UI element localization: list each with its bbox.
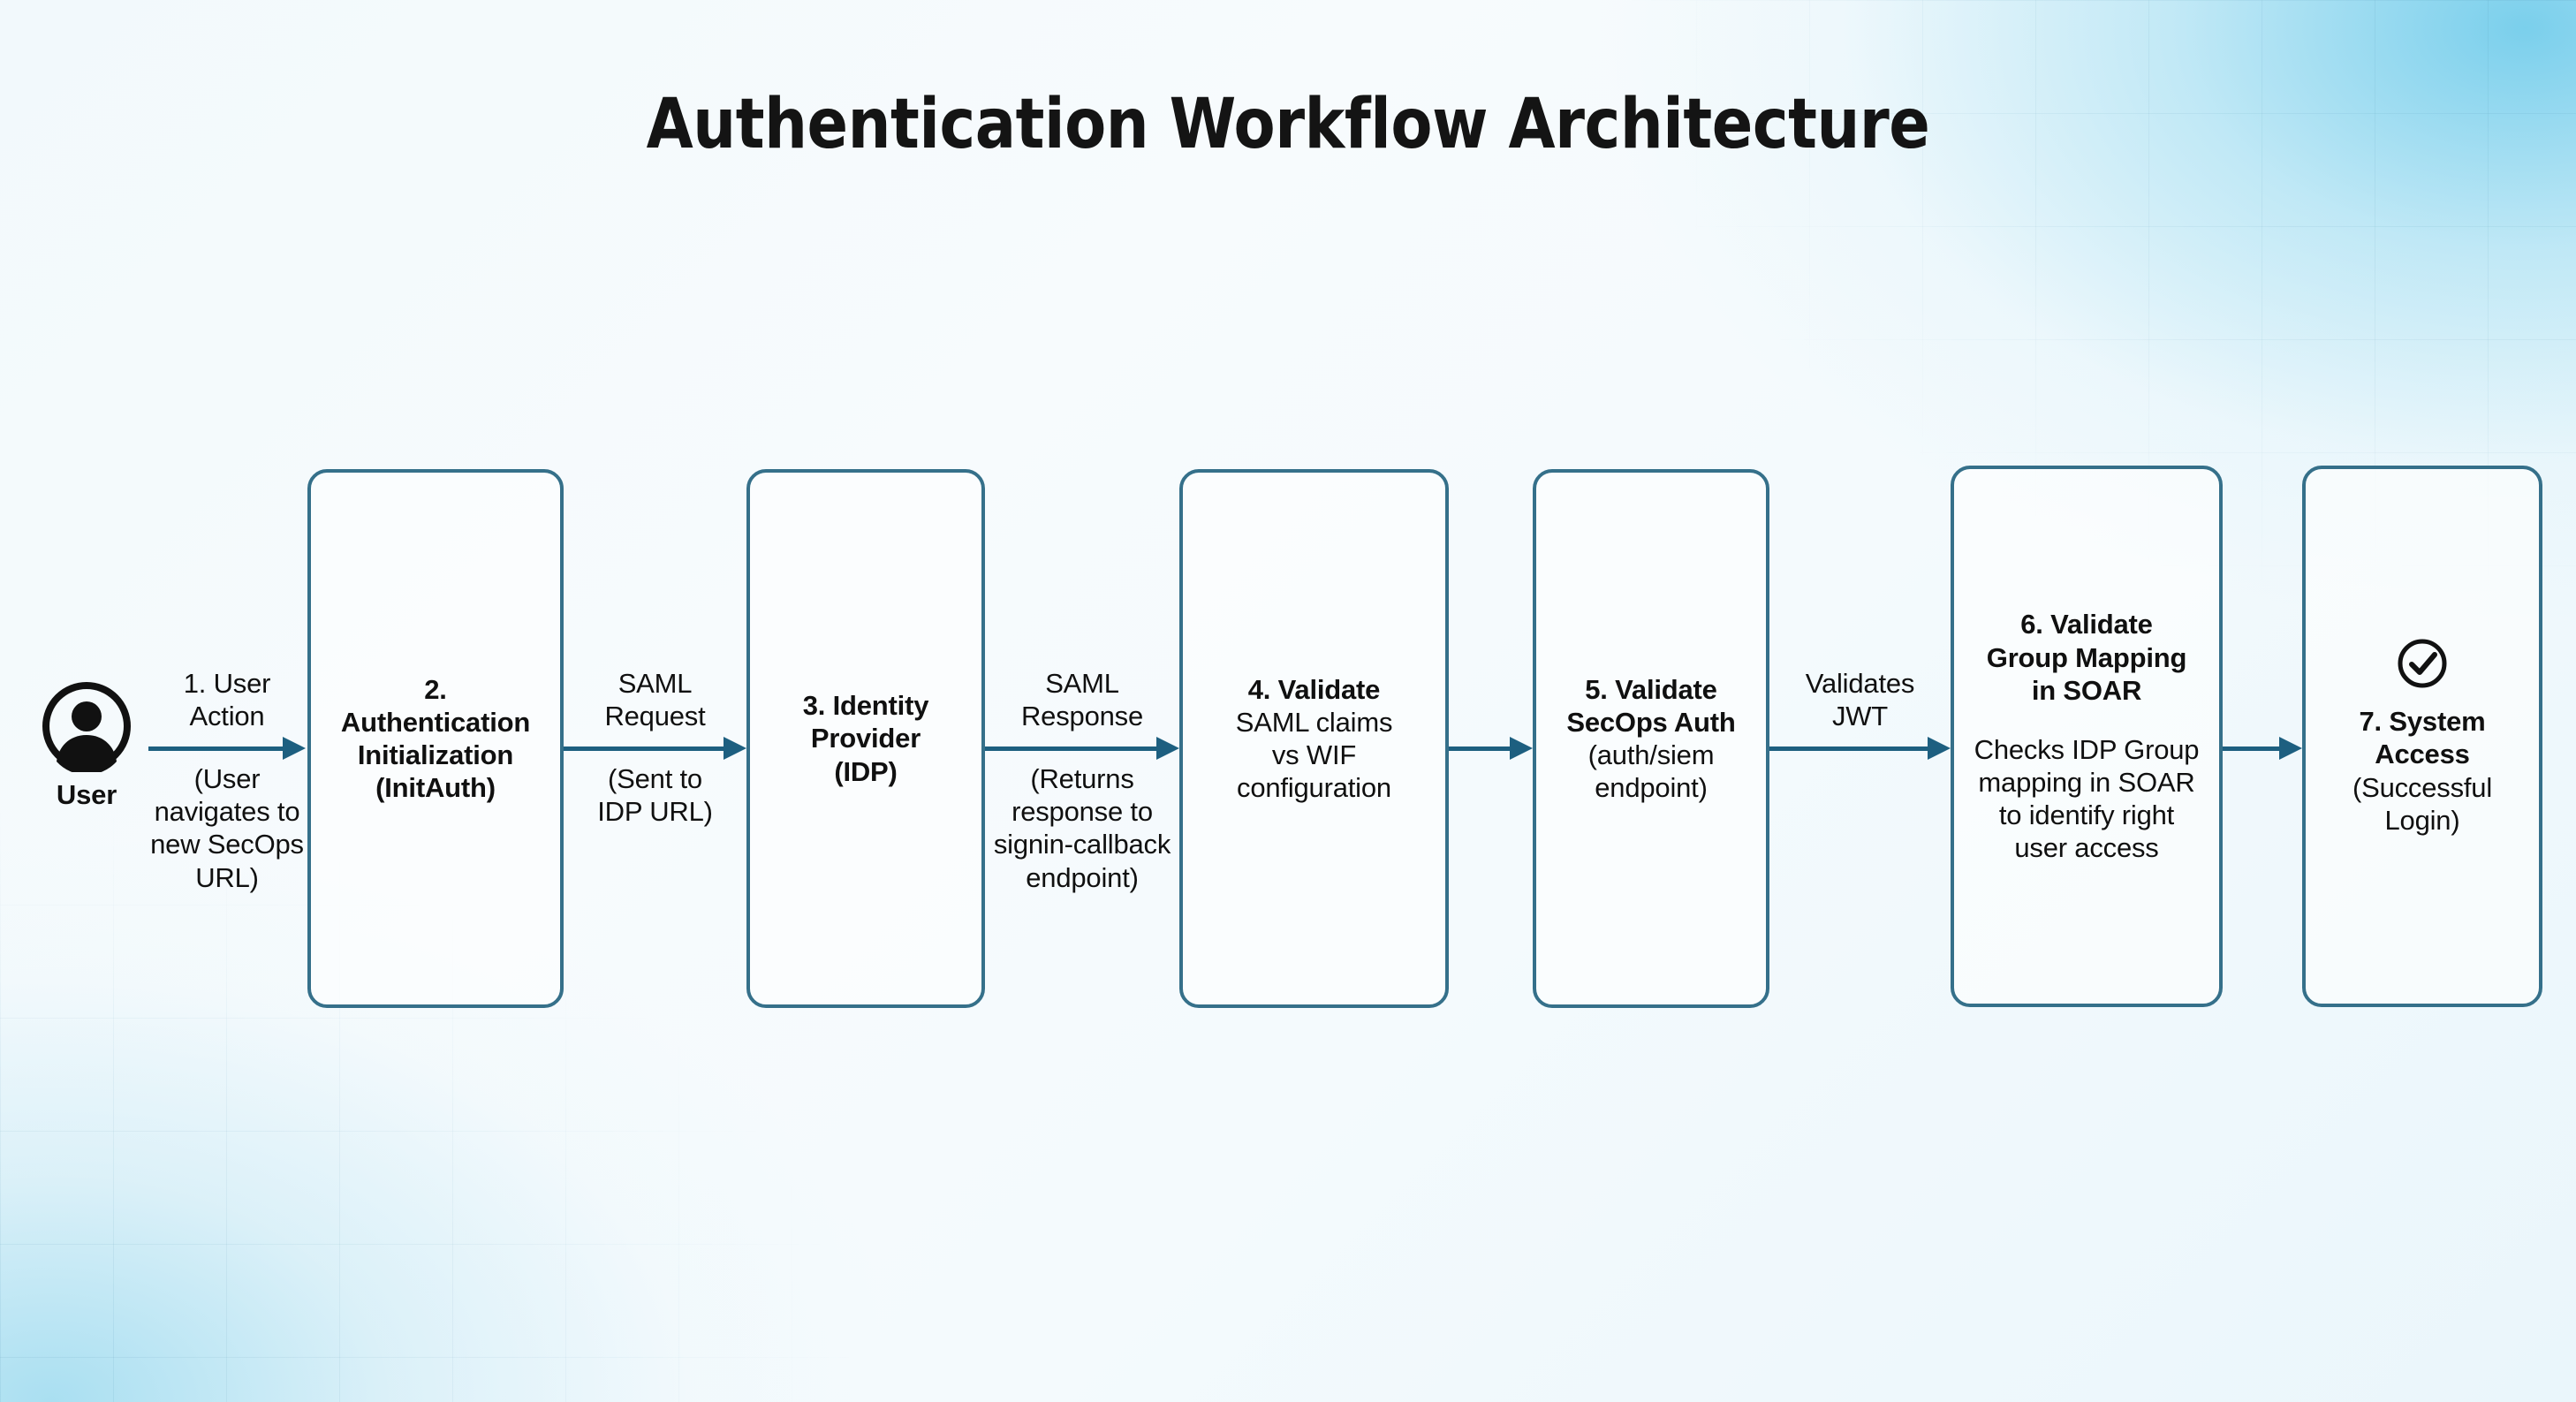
edge-label-top: SAML Request xyxy=(564,667,746,732)
node-authentication-initialization[interactable]: 2. Authentication Initialization (InitAu… xyxy=(307,469,564,1008)
node-identity-provider[interactable]: 3. Identity Provider (IDP) xyxy=(746,469,985,1008)
arrowhead-icon xyxy=(283,737,306,760)
node-title: 6. Validate Group Mapping in SOAR xyxy=(1987,608,2186,707)
node-title: 5. Validate SecOps Auth xyxy=(1566,673,1735,739)
node-validate-secops-auth[interactable]: 5. Validate SecOps Auth (auth/siem endpo… xyxy=(1533,469,1769,1008)
node-validate-saml-claims[interactable]: 4. Validate SAML claims vs WIF configura… xyxy=(1179,469,1449,1008)
arrowhead-icon xyxy=(1156,737,1179,760)
node-subtitle: (Successful Login) xyxy=(2352,771,2492,837)
node-subtitle: SAML claims vs WIF configuration xyxy=(1236,706,1393,805)
node-title: 4. Validate xyxy=(1248,673,1380,706)
workflow-flow: User 1. User Action (User navigates to n… xyxy=(0,0,2576,1402)
node-title: 7. System Access xyxy=(2360,705,2486,770)
check-circle-icon xyxy=(2395,636,2450,691)
edge-line xyxy=(1449,746,1510,751)
edge-label-bottom: (Sent to IDP URL) xyxy=(564,762,746,828)
node-validate-group-mapping[interactable]: 6. Validate Group Mapping in SOAR Checks… xyxy=(1951,466,2223,1007)
edge-label-top: SAML Response xyxy=(985,667,1179,732)
arrowhead-icon xyxy=(2279,737,2302,760)
edge-line xyxy=(148,746,283,751)
node-subtitle: (auth/siem endpoint) xyxy=(1588,739,1715,804)
arrowhead-icon xyxy=(1510,737,1533,760)
edge-line xyxy=(1769,746,1928,751)
arrowhead-icon xyxy=(724,737,746,760)
node-title: 3. Identity Provider (IDP) xyxy=(803,689,929,788)
edge-line xyxy=(985,746,1156,751)
edge-line xyxy=(2223,746,2279,751)
diagram-canvas: Authentication Workflow Architecture Use… xyxy=(0,0,2576,1402)
actor-label: User xyxy=(57,779,117,811)
edge-label-top: 1. User Action xyxy=(148,667,306,732)
user-avatar-icon xyxy=(41,680,133,772)
arrowhead-icon xyxy=(1928,737,1951,760)
edge-label-bottom: (Returns response to signin-callback end… xyxy=(985,762,1179,894)
node-system-access[interactable]: 7. System Access (Successful Login) xyxy=(2302,466,2542,1007)
actor-user[interactable]: User xyxy=(27,680,147,811)
edge-label-top: Validates JWT xyxy=(1769,667,1951,732)
edge-line xyxy=(564,746,724,751)
node-subtitle: Checks IDP Group mapping in SOAR to iden… xyxy=(1974,733,2200,865)
edge-label-bottom: (User navigates to new SecOps URL) xyxy=(148,762,306,894)
node-title: 2. Authentication Initialization (InitAu… xyxy=(341,673,530,805)
